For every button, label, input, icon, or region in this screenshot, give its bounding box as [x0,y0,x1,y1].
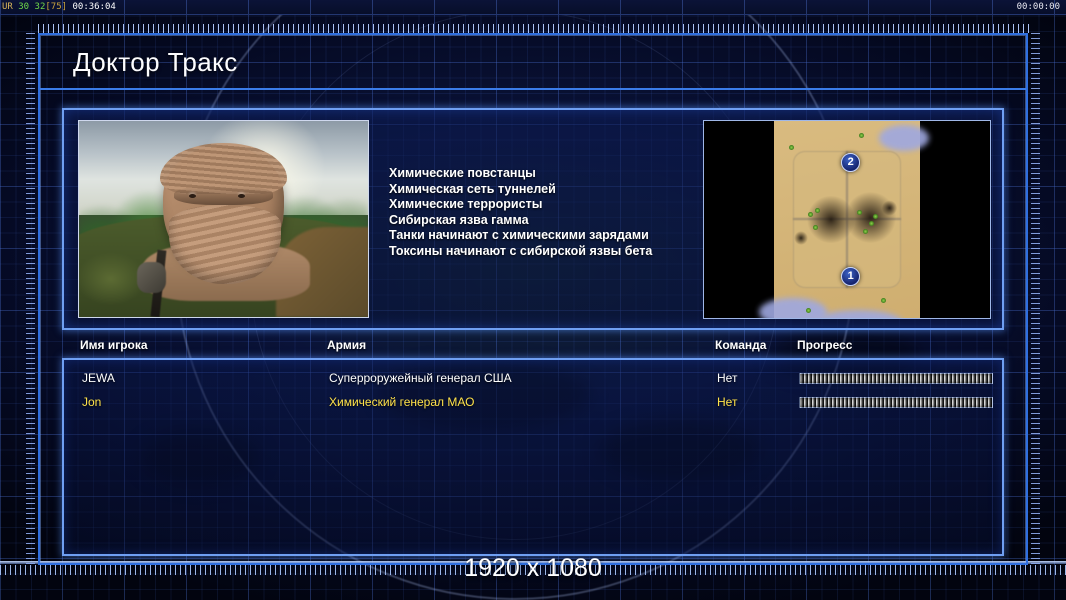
ability-line: Сибирская язва гамма [389,213,689,229]
map-water [759,298,826,319]
ruler-right [1031,33,1040,565]
portrait-eye-right [238,194,245,198]
ruler-top [38,24,1030,33]
table-row[interactable]: Jon Химический генерал МАО Нет [64,392,1002,416]
map-tree [815,208,820,213]
player-name: JEWA [82,371,115,385]
ability-line: Токсины начинают с сибирской язвы бета [389,244,689,260]
column-header-team: Команда [715,338,766,352]
map-start-position-1: 1 [841,267,860,286]
player-table-header: Имя игрока Армия Команда Прогресс [62,338,1004,358]
title-bar: Доктор Тракс [40,35,1026,90]
top-status-bar: UR 30 32[75] 00:36:04 00:00:00 [0,0,1066,15]
player-army: Химический генерал МАО [329,395,474,409]
column-header-name: Имя игрока [80,338,148,352]
ability-line: Химические террористы [389,197,689,213]
session-clock: 00:00:00 [1017,1,1060,13]
map-tree [857,210,862,215]
general-info-panel: Химические повстанцы Химическая сеть тун… [62,108,1004,330]
ruler-left [26,33,35,565]
map-crater [794,231,807,245]
player-team: Нет [717,371,737,385]
map-terrain: 2 1 [774,121,920,318]
portrait-eye-left [189,194,196,198]
general-portrait [78,120,369,318]
player-army: Суперроружейный генерал США [329,371,512,385]
map-crater [882,200,897,216]
portrait-canteen [137,262,166,293]
map-water [815,310,903,319]
table-row[interactable]: JEWA Суперроружейный генерал США Нет [64,368,1002,392]
fps-bracket: [75] [45,2,67,12]
map-preview: 2 1 [703,120,991,319]
column-header-progress: Прогресс [797,338,852,352]
map-tree [808,212,813,217]
map-water [879,125,929,151]
player-list-panel: JEWA Суперроружейный генерал США Нет Jon… [62,358,1004,556]
ability-line: Танки начинают с химическими зарядами [389,228,689,244]
fps-counter: UR 30 32[75] 00:36:04 [2,1,116,13]
map-tree [881,298,886,303]
map-tree [873,214,878,219]
ability-line: Химические повстанцы [389,166,689,182]
column-header-army: Армия [327,338,366,352]
player-team: Нет [717,395,737,409]
map-tree [859,133,864,138]
player-name: Jon [82,395,101,409]
topbar-grid [0,0,1066,14]
fps-value-alt: 32 [35,2,46,12]
map-tree [789,145,794,150]
ability-line: Химическая сеть туннелей [389,182,689,198]
fps-value: 30 [18,2,29,12]
elapsed-time: 00:36:04 [72,2,115,12]
resolution-label: 1920 x 1080 [0,554,1066,583]
fps-label: UR [2,2,13,12]
general-ability-list: Химические повстанцы Химическая сеть тун… [389,166,689,260]
player-progress-bar [799,397,993,408]
player-progress-bar [799,373,993,384]
page-title: Доктор Тракс [73,47,238,78]
map-start-position-2: 2 [841,153,860,172]
